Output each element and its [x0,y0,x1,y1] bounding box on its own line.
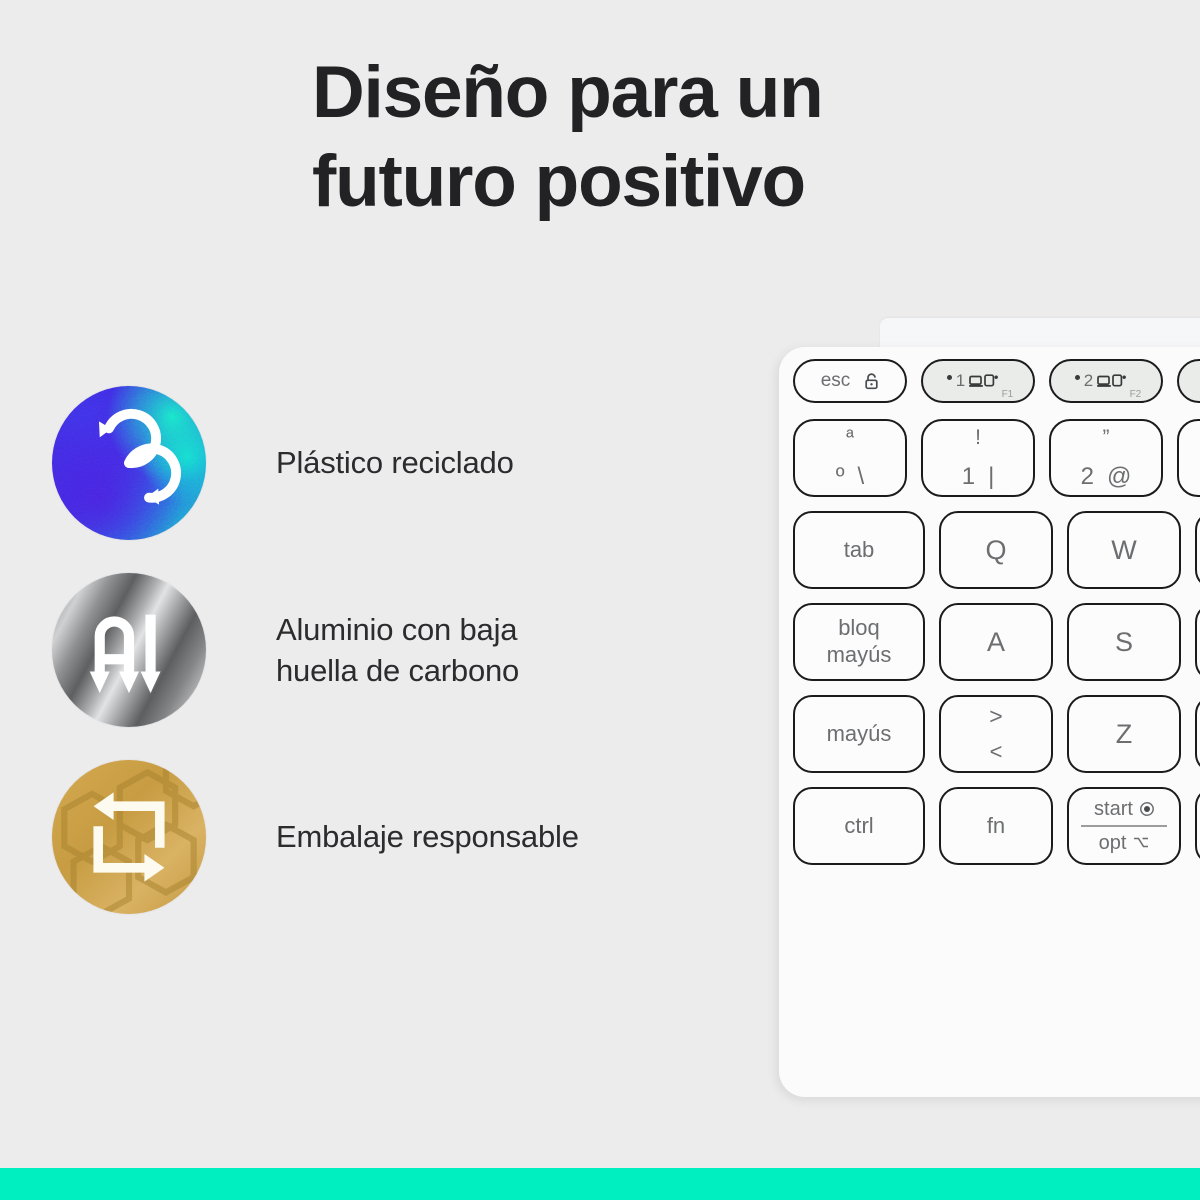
bluetooth-status-dot-2 [1075,375,1080,380]
key-a-label: A [987,629,1005,656]
keyboard-modifier-row: ctrl fn start opt [793,787,1200,865]
key-shift-label: mayús [827,723,892,745]
feature-label-responsible-packaging: Embalaje responsable [276,816,579,857]
key-q-label: Q [985,537,1006,564]
bottom-accent-bar [0,1168,1200,1200]
feature-list: Plástico reciclado Aluminio con baja hue… [52,383,752,917]
keyboard-key-rows: esc 1 [793,359,1200,1108]
keyboard-number-row: ª º \ ! 1 | ” [793,419,1200,497]
key-opt-label: opt [1099,833,1127,853]
key-1-top: ! [975,427,981,448]
key-tab-label: tab [844,539,875,561]
key-3[interactable] [1177,419,1200,497]
key-1[interactable]: ! 1 | [921,419,1035,497]
key-tab[interactable]: tab [793,511,925,589]
key-s[interactable]: S [1067,603,1181,681]
feature-label-line-2: huella de carbono [276,650,519,691]
key-a[interactable]: A [939,603,1053,681]
feature-item-recycled-plastic: Plástico reciclado [52,383,752,543]
key-f1-sublabel: F1 [1002,389,1014,400]
key-f3[interactable]: 3 [1177,359,1200,403]
key-esc[interactable]: esc [793,359,907,403]
key-ordinal-alt: \ [858,465,865,489]
feature-label-low-carbon-aluminium: Aluminio con baja huella de carbono [276,609,519,691]
key-angle-brackets[interactable]: > < [939,695,1053,773]
key-f2-sublabel: F2 [1130,389,1142,400]
key-caps-lock-line-1: bloq [838,615,880,642]
page-title-line-2: futuro positivo [312,137,1012,226]
recycle-arrows-glyph [52,386,206,540]
option-icon [1133,836,1149,849]
keyboard-qwerty-row: tab Q W [793,511,1200,589]
key-masculine-ordinal[interactable]: ª º \ [793,419,907,497]
key-divider [1081,825,1167,827]
key-shift[interactable]: mayús [793,695,925,773]
keyboard-product-image: esc 1 [770,318,1200,1108]
lock-icon [864,373,879,390]
key-1-bottom: 1 [962,465,975,489]
key-ordinal-bottom: º [836,465,845,489]
key-z-label: Z [1116,721,1133,748]
key-2-bottom: 2 [1081,465,1094,489]
key-f1[interactable]: 1 F1 [921,359,1035,403]
key-2-alt: @ [1107,465,1131,489]
key-f2-channel: 2 [1084,371,1093,391]
key-start-label: start [1094,799,1133,819]
key-z[interactable]: Z [1067,695,1181,773]
feature-label-line-1: Aluminio con baja [276,609,519,650]
key-q[interactable]: Q [939,511,1053,589]
packaging-recycle-glyph [52,760,206,914]
key-fn-label: fn [987,815,1005,837]
key-e[interactable] [1195,511,1200,589]
key-w-label: W [1111,537,1136,564]
low-carbon-aluminium-icon [52,573,206,727]
keyboard-function-row: esc 1 [793,359,1200,403]
windows-start-icon [1140,802,1154,816]
key-fn[interactable]: fn [939,787,1053,865]
key-ordinal-top: ª [846,427,854,448]
key-ctrl[interactable]: ctrl [793,787,925,865]
keyboard-shift-row: mayús > < Z [793,695,1200,773]
key-f1-channel: 1 [956,371,965,391]
key-2-top: ” [1102,427,1109,448]
recycled-plastic-icon [52,386,206,540]
key-caps-lock[interactable]: bloq mayús [793,603,925,681]
page-title: Diseño para un futuro positivo [312,48,1012,226]
bluetooth-status-dot-1 [947,375,952,380]
feature-label-line-1: Plástico reciclado [276,442,514,483]
key-1-alt: | [988,465,994,489]
key-ctrl-label: ctrl [844,815,873,837]
key-x[interactable] [1195,695,1200,773]
feature-label-recycled-plastic: Plástico reciclado [276,442,514,483]
feature-item-low-carbon-aluminium: Aluminio con baja huella de carbono [52,570,752,730]
key-d[interactable] [1195,603,1200,681]
page-title-line-1: Diseño para un [312,48,1012,137]
key-caps-lock-line-2: mayús [827,642,892,669]
keyboard-home-row: bloq mayús A S [793,603,1200,681]
device-switch-icon [969,373,999,390]
key-s-label: S [1115,629,1133,656]
key-start-opt[interactable]: start opt [1067,787,1181,865]
feature-label-line-1: Embalaje responsable [276,816,579,857]
responsible-packaging-icon [52,760,206,914]
aluminium-arrows-glyph [52,573,206,727]
device-switch-icon [1097,373,1127,390]
key-w[interactable]: W [1067,511,1181,589]
key-cmd[interactable]: cmd [1195,787,1200,865]
key-angle-bottom: < [990,741,1003,763]
key-esc-label: esc [821,370,851,392]
feature-item-responsible-packaging: Embalaje responsable [52,757,752,917]
key-2[interactable]: ” 2 @ [1049,419,1163,497]
key-angle-top: > [989,705,1002,728]
key-f2[interactable]: 2 F2 [1049,359,1163,403]
